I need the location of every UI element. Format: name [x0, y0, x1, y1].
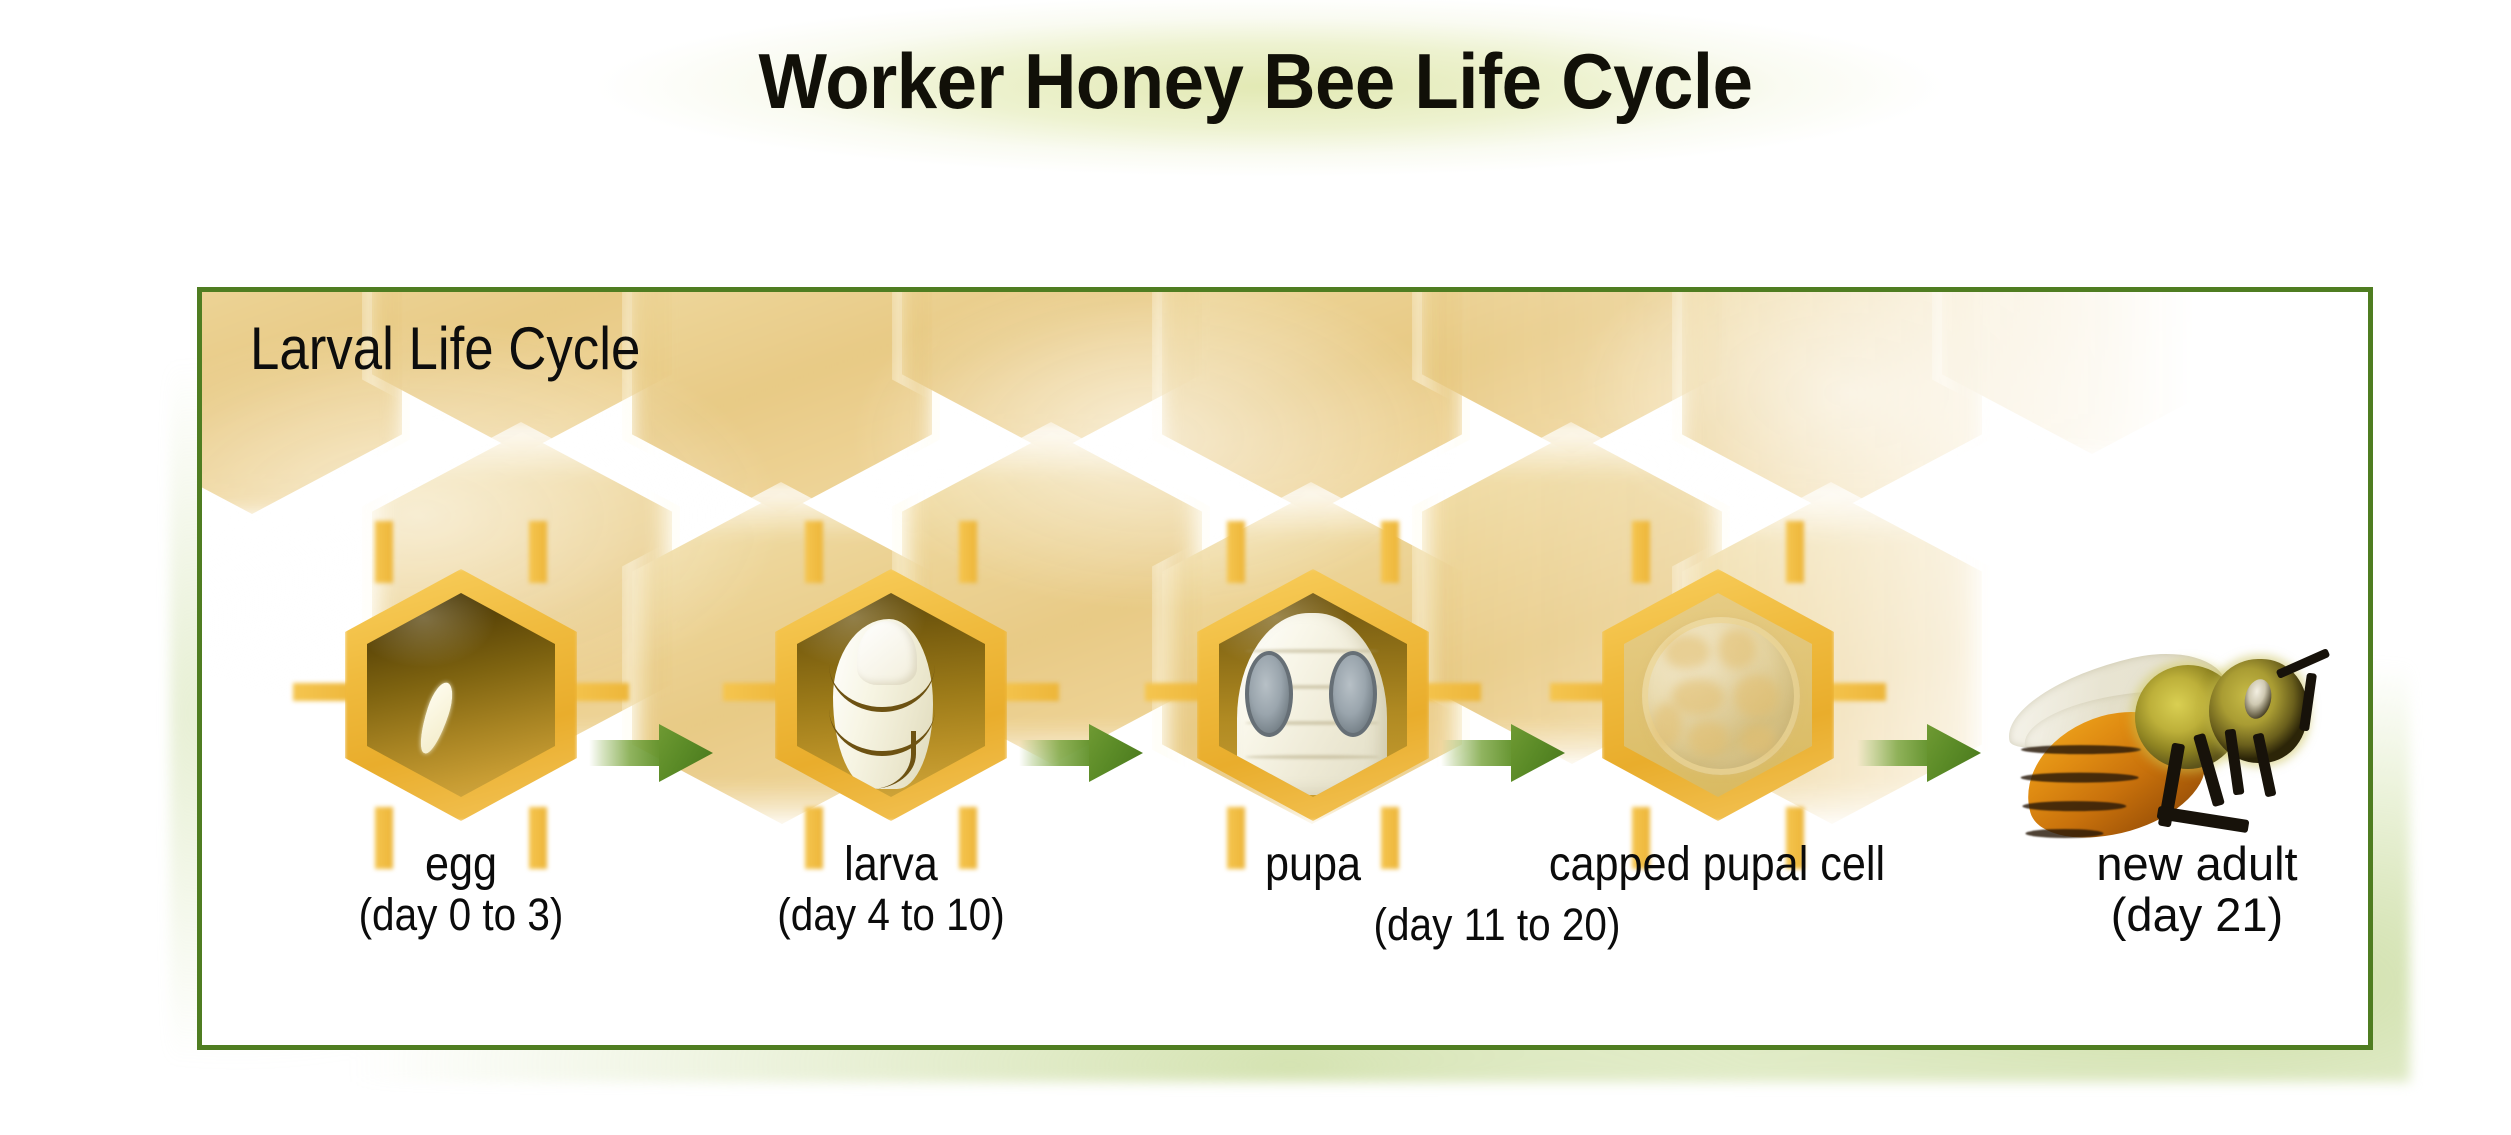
stage-days-larva: (day 4 to 10) — [675, 890, 1107, 940]
hex-cell-larva-icon — [775, 569, 1007, 821]
pupa-eye-right-icon — [1329, 651, 1377, 737]
stage-label-egg: egg (day 0 to 3) — [221, 840, 701, 939]
arrow-right-icon-egg-to-larva — [589, 724, 713, 782]
title-area: Worker Honey Bee Life Cycle — [0, 0, 2511, 200]
stage-label-capped: capped pupal cell — [1452, 840, 1982, 890]
stage-label-larva: larva (day 4 to 10) — [651, 840, 1131, 939]
honey-bee-illustration — [2017, 637, 2347, 852]
bee-larva-shape — [827, 619, 939, 789]
page-title: Worker Honey Bee Life Cycle — [88, 36, 2423, 127]
stage-days-new-adult: (day 21) — [2012, 889, 2368, 941]
bee-antenna-upper-icon — [2276, 648, 2331, 679]
hex-cell-capped-icon — [1602, 569, 1834, 821]
arrow-right-icon-pupa-to-capped — [1441, 724, 1565, 782]
stage-name-new-adult: new adult — [2012, 840, 2368, 889]
capped-cell-wax-cap — [1642, 617, 1800, 775]
stage-label-new-adult: new adult (day 21) — [2012, 840, 2368, 941]
arrow-right-icon-capped-to-adult — [1857, 724, 1981, 782]
hex-cell-egg-icon — [345, 569, 577, 821]
stage-days-egg: (day 0 to 3) — [245, 890, 677, 940]
pupa-eye-left-icon — [1245, 651, 1293, 737]
shared-day-text: (day 11 to 20) — [1245, 900, 1749, 950]
stage-name-larva: larva — [675, 840, 1107, 890]
life-cycle-panel: Larval Life Cycle egg (day 0 to 3) — [197, 287, 2373, 1050]
section-label: Larval Life Cycle — [250, 314, 640, 383]
stage-name-egg: egg — [245, 840, 677, 890]
hex-cell-pupa-icon — [1197, 569, 1429, 821]
shared-day-label-pupa-stage: (day 11 to 20) — [1217, 900, 1777, 950]
arrow-right-icon-larva-to-pupa — [1019, 724, 1143, 782]
stage-name-capped: capped pupal cell — [1479, 840, 1956, 890]
bee-pupa-shape — [1237, 613, 1387, 795]
